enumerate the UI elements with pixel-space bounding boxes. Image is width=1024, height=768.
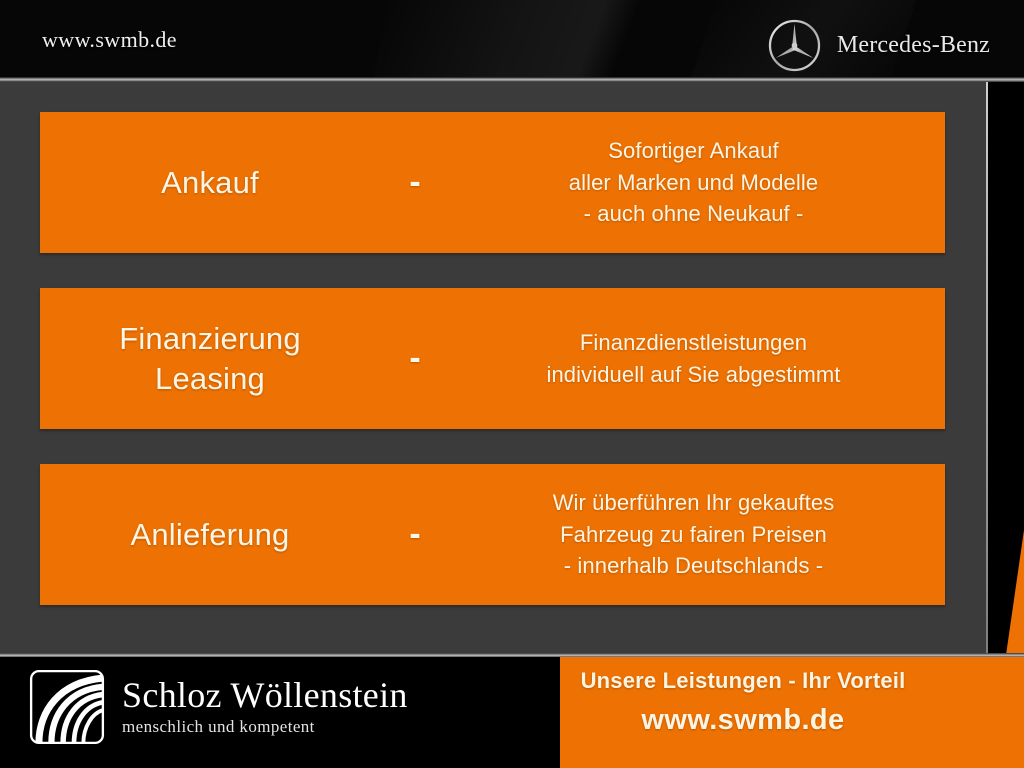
service-label: Ankauf (40, 163, 380, 203)
header-bar: www.swmb.de Mercedes-Benz (0, 0, 1024, 82)
slide-root: www.swmb.de Mercedes-Benz (0, 0, 1024, 768)
service-description: Finanzdienstleistungen individuell auf S… (450, 327, 945, 391)
service-desc-line: Wir überführen Ihr gekauftes (450, 487, 937, 519)
mercedes-benz-wordmark: Mercedes-Benz (837, 32, 990, 59)
service-band-finanzierung-leasing[interactable]: Finanzierung Leasing - Finanzdienstleist… (40, 288, 945, 429)
service-separator: - (380, 515, 450, 554)
footer-url[interactable]: www.swmb.de (508, 704, 978, 737)
service-desc-line: Fahrzeug zu fairen Preisen (450, 519, 937, 551)
service-desc-line: - innerhalb Deutschlands - (450, 550, 937, 582)
service-desc-line: individuell auf Sie abgestimmt (450, 359, 937, 391)
dealer-text-block: Schloz Wöllenstein menschlich und kompet… (122, 677, 408, 737)
service-band-ankauf[interactable]: Ankauf - Sofortiger Ankauf aller Marken … (40, 112, 945, 253)
service-desc-line: aller Marken und Modelle (450, 167, 937, 199)
service-label-line: Ankauf (40, 163, 380, 203)
header-site-url[interactable]: www.swmb.de (42, 27, 177, 53)
mercedes-star-icon (766, 17, 823, 74)
service-desc-line: - auch ohne Neukauf - (450, 198, 937, 230)
dealer-tagline: menschlich und kompetent (122, 717, 408, 737)
service-label: Anlieferung (40, 515, 380, 555)
dealer-name: Schloz Wöllenstein (122, 677, 408, 715)
service-separator: - (380, 339, 450, 378)
service-desc-line: Finanzdienstleistungen (450, 327, 937, 359)
header-sheen-decoration (362, 0, 728, 82)
service-description: Wir überführen Ihr gekauftes Fahrzeug zu… (450, 487, 945, 583)
mercedes-benz-logo: Mercedes-Benz (766, 17, 990, 74)
service-label: Finanzierung Leasing (40, 319, 380, 398)
service-description: Sofortiger Ankauf aller Marken und Model… (450, 135, 945, 231)
service-desc-line: Sofortiger Ankauf (450, 135, 937, 167)
service-label-line: Leasing (40, 359, 380, 399)
footer-divider (0, 653, 1024, 657)
footer-claim: Unsere Leistungen - Ihr Vorteil (508, 668, 978, 694)
service-band-anlieferung[interactable]: Anlieferung - Wir überführen Ihr gekauft… (40, 464, 945, 605)
service-separator: - (380, 163, 450, 202)
footer-claim-block: Unsere Leistungen - Ihr Vorteil www.swmb… (508, 668, 978, 737)
road-lines-logo-icon (28, 668, 106, 746)
service-label-line: Finanzierung (40, 319, 380, 359)
dealer-logo-block[interactable]: Schloz Wöllenstein menschlich und kompet… (28, 668, 408, 746)
service-label-line: Anlieferung (40, 515, 380, 555)
